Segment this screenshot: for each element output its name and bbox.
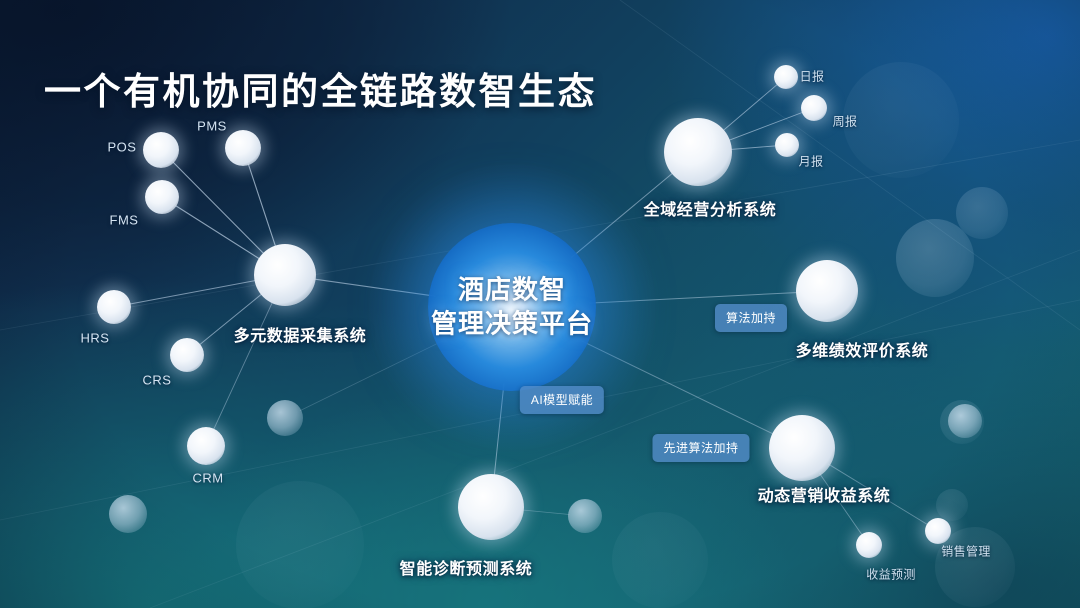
leaf-node-dim-a	[267, 400, 303, 436]
leaf-node-crs[interactable]	[170, 338, 204, 372]
leaf-node-sales-mgmt[interactable]	[925, 518, 951, 544]
tag-chip-advalgo[interactable]: 先进算法加持	[652, 434, 749, 462]
leaf-node-dim-c	[568, 499, 602, 533]
leaf-node-crm[interactable]	[187, 427, 225, 465]
central-platform-label: 酒店数智管理决策平台	[431, 273, 593, 342]
hub-node-analysis[interactable]	[664, 118, 732, 186]
central-platform-line-1: 酒店数智	[431, 273, 593, 307]
leaf-node-pos[interactable]	[143, 132, 179, 168]
leaf-node-hrs[interactable]	[97, 290, 131, 324]
leaf-node-monthly[interactable]	[775, 133, 799, 157]
hub-node-collect[interactable]	[254, 244, 316, 306]
leaf-node-dim-d	[948, 404, 982, 438]
leaf-node-fms[interactable]	[145, 180, 179, 214]
leaf-node-daily[interactable]	[774, 65, 798, 89]
tag-chip-algo[interactable]: 算法加持	[715, 304, 787, 332]
central-platform-line-2: 管理决策平台	[431, 307, 593, 341]
page-title: 一个有机协同的全链路数智生态	[44, 61, 597, 115]
hub-node-revenue[interactable]	[769, 415, 835, 481]
leaf-node-pms[interactable]	[225, 130, 261, 166]
slide-canvas: 酒店数智管理决策平台 多元数据采集系统全域经营分析系统多维绩效评价系统动态营销收…	[0, 0, 1080, 608]
hub-node-diagnosis[interactable]	[458, 474, 524, 540]
leaf-node-dim-b	[109, 495, 147, 533]
hub-node-kpi[interactable]	[796, 260, 858, 322]
tag-chip-ai[interactable]: AI模型赋能	[520, 386, 604, 414]
leaf-node-weekly[interactable]	[801, 95, 827, 121]
leaf-node-revenue-forecast[interactable]	[856, 532, 882, 558]
